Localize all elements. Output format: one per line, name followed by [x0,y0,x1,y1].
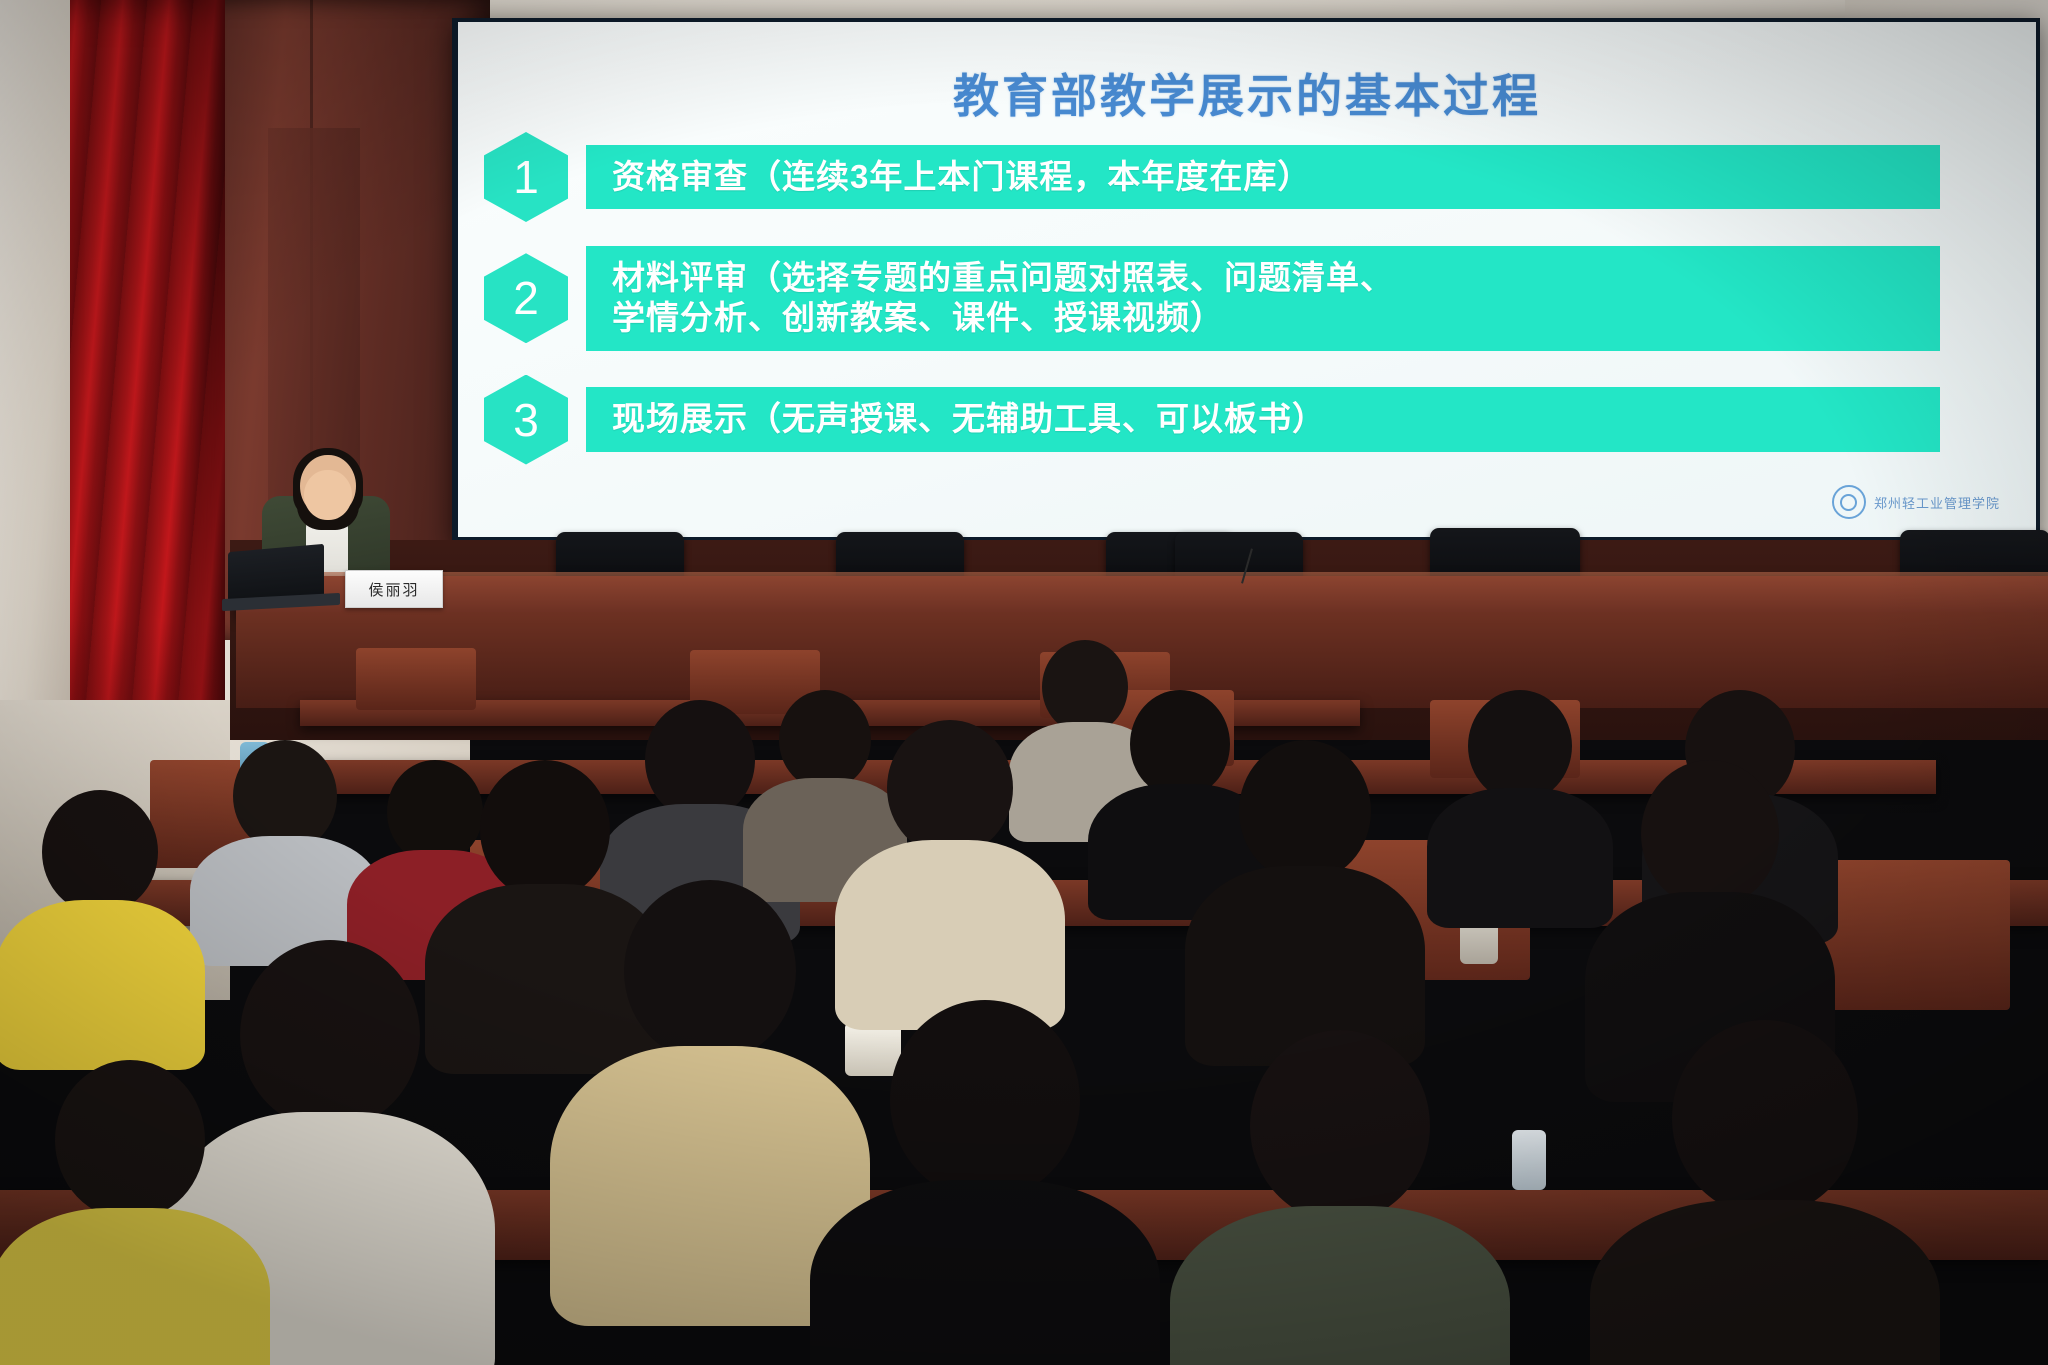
slide-item-1: 1 资格审查（连续3年上本门课程，本年度在库） [458,132,2036,222]
audience-person [0,790,200,1050]
audience-person [1600,1020,1930,1365]
university-name-label: 郑州轻工业管理学院 [1874,493,2000,512]
audience-person [1180,1030,1500,1365]
projected-slide: 教育部教学展示的基本过程 1 资格审查（连续3年上本门课程，本年度在库） 2 材… [458,22,2036,537]
step-text-bar-2: 材料评审（选择专题的重点问题对照表、问题清单、 学情分析、创新教案、课件、授课视… [586,246,1940,351]
step-text-2-line-1: 材料评审（选择专题的重点问题对照表、问题清单、 [612,258,1394,298]
step-number-badge-2: 2 [484,253,568,343]
step-number-badge-3: 3 [484,375,568,465]
water-bottle [1512,1130,1546,1190]
step-text-bar-1: 资格审查（连续3年上本门课程，本年度在库） [586,145,1940,209]
speaker-face [304,470,352,520]
seat-back [356,648,476,710]
step-text-3-line-1: 现场展示（无声授课、无辅助工具、可以板书） [612,399,1326,439]
step-text-bar-3: 现场展示（无声授课、无辅助工具、可以板书） [586,387,1940,451]
slide-item-list: 1 资格审查（连续3年上本门课程，本年度在库） 2 材料评审（选择专题的重点问题… [458,132,2036,489]
audience-person [0,1060,260,1365]
slide-title: 教育部教学展示的基本过程 [458,60,2036,126]
university-seal-icon [1832,485,1866,519]
speaker-nameplate: 侯丽羽 [345,570,443,608]
audience-person [840,720,1060,1020]
audience-person [1190,740,1420,1060]
step-text-1-line-1: 资格审查（连续3年上本门课程，本年度在库） [612,157,1311,197]
audience-person [1430,690,1610,920]
head-table-top [236,576,2048,616]
audience-person [820,1000,1150,1365]
slide-footer-logo: 郑州轻工业管理学院 [1832,485,2000,519]
slide-item-2: 2 材料评审（选择专题的重点问题对照表、问题清单、 学情分析、创新教案、课件、授… [458,246,2036,351]
step-text-2-line-2: 学情分析、创新教案、课件、授课视频） [612,298,1394,338]
audience-person [560,880,860,1310]
step-number-badge-1: 1 [484,132,568,222]
slide-item-3: 3 现场展示（无声授课、无辅助工具、可以板书） [458,375,2036,465]
lecture-hall-scene: 教育部教学展示的基本过程 1 资格审查（连续3年上本门课程，本年度在库） 2 材… [0,0,2048,1365]
